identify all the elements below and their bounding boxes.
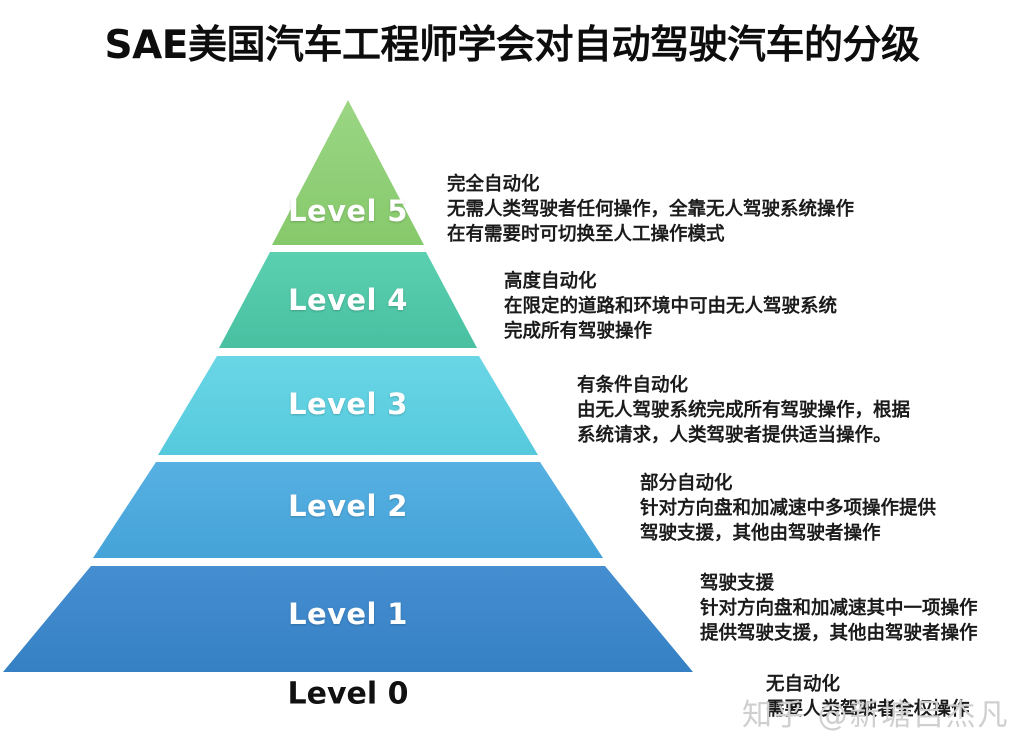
description-line-level-0-1: 需要人类驾驶者全权操作 xyxy=(766,697,970,722)
description-level-1: 驾驶支援 针对方向盘和加减速其中一项操作 提供驾驶支援，其他由驾驶者操作 xyxy=(700,571,978,646)
description-heading-level-1: 驾驶支援 xyxy=(700,571,978,596)
slide-canvas: SAE美国汽车工程师学会对自动驾驶汽车的分级 xyxy=(0,0,1024,753)
pyramid-band-level-1[interactable] xyxy=(3,566,693,672)
description-heading-level-5: 完全自动化 xyxy=(447,172,854,197)
description-level-3: 有条件自动化 由无人驾驶系统完成所有驾驶操作，根据 系统请求，人类驾驶者提供适当… xyxy=(577,373,910,448)
description-heading-level-3: 有条件自动化 xyxy=(577,373,910,398)
description-line-level-1-2: 提供驾驶支援，其他由驾驶者操作 xyxy=(700,621,978,646)
description-line-level-3-2: 系统请求，人类驾驶者提供适当操作。 xyxy=(577,423,910,448)
pyramid-band-level-3[interactable] xyxy=(158,356,538,455)
description-line-level-2-1: 针对方向盘和加减速中多项操作提供 xyxy=(640,496,936,521)
pyramid-band-level-2[interactable] xyxy=(93,462,603,558)
description-level-5: 完全自动化 无需人类驾驶者任何操作，全靠无人驾驶系统操作 在有需要时可切换至人工… xyxy=(447,172,854,247)
description-heading-level-0: 无自动化 xyxy=(766,672,970,697)
description-line-level-3-1: 由无人驾驶系统完成所有驾驶操作，根据 xyxy=(577,398,910,423)
pyramid-band-level-5[interactable] xyxy=(272,100,424,245)
description-line-level-5-1: 无需人类驾驶者任何操作，全靠无人驾驶系统操作 xyxy=(447,197,854,222)
description-heading-level-2: 部分自动化 xyxy=(640,471,936,496)
description-line-level-4-2: 完成所有驾驶操作 xyxy=(504,319,837,344)
pyramid-label-level-0: Level 0 xyxy=(288,677,409,712)
description-level-2: 部分自动化 针对方向盘和加减速中多项操作提供 驾驶支援，其他由驾驶者操作 xyxy=(640,471,936,546)
description-line-level-2-2: 驾驶支援，其他由驾驶者操作 xyxy=(640,521,936,546)
description-heading-level-4: 高度自动化 xyxy=(504,269,837,294)
description-level-4: 高度自动化 在限定的道路和环境中可由无人驾驶系统 完成所有驾驶操作 xyxy=(504,269,837,344)
description-level-0: 无自动化 需要人类驾驶者全权操作 xyxy=(766,672,970,722)
description-line-level-1-1: 针对方向盘和加减速其中一项操作 xyxy=(700,596,978,621)
description-line-level-4-1: 在限定的道路和环境中可由无人驾驶系统 xyxy=(504,294,837,319)
description-line-level-5-2: 在有需要时可切换至人工操作模式 xyxy=(447,222,854,247)
pyramid-band-level-4[interactable] xyxy=(219,252,477,348)
